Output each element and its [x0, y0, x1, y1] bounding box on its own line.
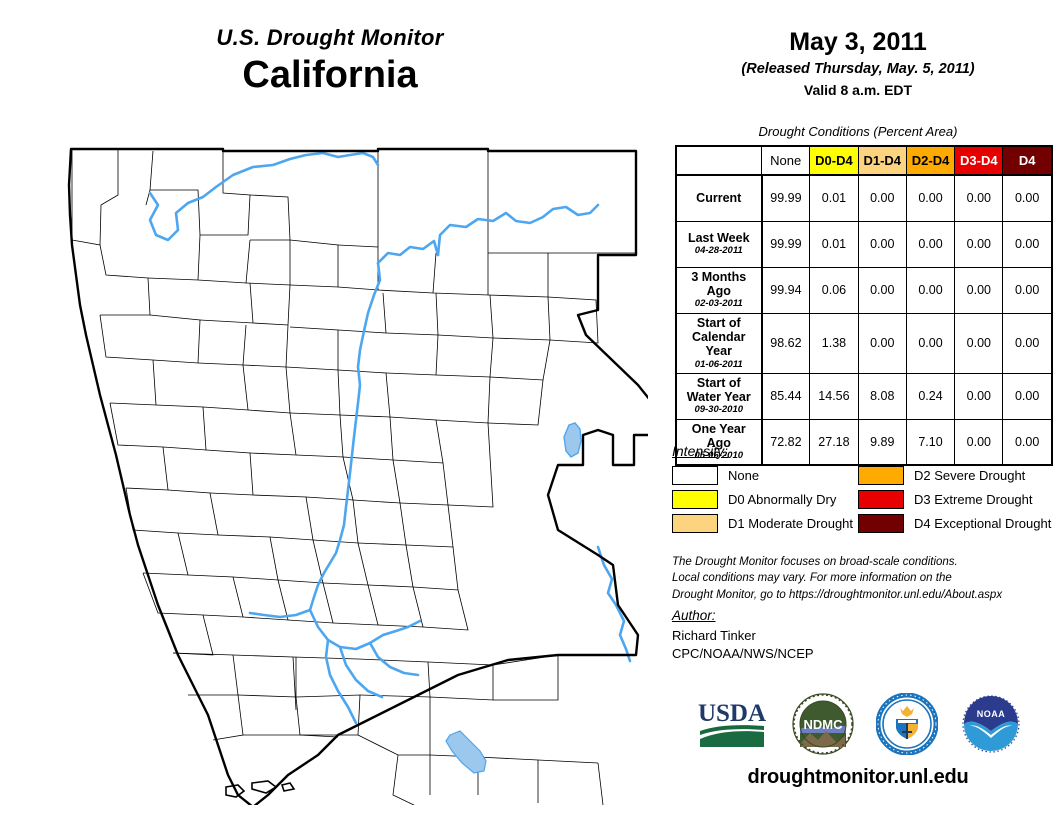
column-header-d4: D4	[1003, 146, 1052, 175]
table-row: 3 Months Ago 02-03-2011 99.94 0.06 0.00 …	[676, 267, 1052, 313]
author-organization: CPC/NOAA/NWS/NCEP	[672, 645, 1056, 663]
cell-d2d4: 0.24	[906, 373, 954, 419]
row-label-text: Start ofWater Year	[687, 376, 751, 404]
disclaimer-line-3: Drought Monitor, go to https://droughtmo…	[672, 587, 1056, 603]
page-title: U.S. Drought Monitor	[0, 26, 660, 50]
row-label-last-week: Last Week 04-28-2011	[676, 221, 762, 267]
legend-swatch-d4	[858, 514, 904, 533]
table-caption: Drought Conditions (Percent Area)	[660, 124, 1056, 139]
map-panel: U.S. Drought Monitor California	[0, 0, 660, 816]
map-state-fill	[69, 149, 648, 805]
row-label-date: 01-06-2011	[679, 360, 759, 371]
row-label-text: Start ofCalendar Year	[692, 316, 746, 359]
legend-label-none: None	[728, 468, 759, 483]
table-header-row: None D0-D4 D1-D4 D2-D4 D3-D4 D4	[676, 146, 1052, 175]
column-header-d0d4: D0-D4	[810, 146, 858, 175]
ndmc-logo[interactable]: NDMC	[792, 693, 854, 755]
row-label-text: 3 Months Ago	[691, 270, 746, 298]
cell-none: 99.94	[762, 267, 810, 313]
cell-d2d4: 0.00	[906, 267, 954, 313]
row-label-start-water-year: Start ofWater Year 09-30-2010	[676, 373, 762, 419]
legend-item-d0: D0 Abnormally Dry	[672, 490, 858, 509]
california-drought-map[interactable]	[38, 135, 648, 805]
release-date: (Released Thursday, May. 5, 2011)	[660, 61, 1056, 77]
title-block: U.S. Drought Monitor California	[0, 26, 660, 98]
cell-d4: 0.00	[1003, 267, 1052, 313]
column-header-d1d4: D1-D4	[858, 146, 906, 175]
map-svg	[38, 135, 648, 805]
commerce-seal[interactable]	[876, 693, 938, 755]
noaa-logo[interactable]: NOAA	[960, 693, 1022, 755]
row-label-start-calendar-year: Start ofCalendar Year 01-06-2011	[676, 313, 762, 373]
usda-logo[interactable]: USDA	[694, 695, 770, 753]
intensity-legend-grid: None D2 Severe Drought D0 Abnormally Dry…	[672, 466, 1056, 533]
legend-item-none: None	[672, 466, 858, 485]
table-row: Current 99.99 0.01 0.00 0.00 0.00 0.00	[676, 175, 1052, 221]
valid-time: Valid 8 a.m. EDT	[660, 82, 1056, 98]
cell-none: 99.99	[762, 221, 810, 267]
table-row: Start ofWater Year 09-30-2010 85.44 14.5…	[676, 373, 1052, 419]
author-block: Author: Richard Tinker CPC/NOAA/NWS/NCEP	[672, 608, 1056, 663]
cell-d1d4: 0.00	[858, 267, 906, 313]
table-row: Start ofCalendar Year 01-06-2011 98.62 1…	[676, 313, 1052, 373]
legend-item-d3: D3 Extreme Drought	[858, 490, 1056, 509]
cell-none: 99.99	[762, 175, 810, 221]
row-label-date: 02-03-2011	[679, 299, 759, 310]
cell-d0d4: 0.01	[810, 221, 858, 267]
legend-label-d2: D2 Severe Drought	[914, 468, 1025, 483]
cell-d2d4: 0.00	[906, 175, 954, 221]
intensity-legend: Intensity: None D2 Severe Drought D0 Abn…	[672, 443, 1056, 533]
noaa-logo-text: NOAA	[977, 709, 1006, 719]
legend-swatch-d2	[858, 466, 904, 485]
cell-d3d4: 0.00	[955, 175, 1003, 221]
logo-row: USDA NDMC	[660, 684, 1056, 764]
disclaimer-line-2: Local conditions may vary. For more info…	[672, 570, 1056, 586]
salton-sea	[446, 731, 486, 773]
cell-d1d4: 0.00	[858, 221, 906, 267]
cell-d3d4: 0.00	[955, 267, 1003, 313]
legend-label-d3: D3 Extreme Drought	[914, 492, 1033, 507]
legend-swatch-d0	[672, 490, 718, 509]
table-body: Current 99.99 0.01 0.00 0.00 0.00 0.00 L…	[676, 175, 1052, 465]
author-title: Author:	[672, 608, 1056, 623]
row-label-date: 04-28-2011	[679, 246, 759, 257]
column-header-d3d4: D3-D4	[955, 146, 1003, 175]
column-header-none: None	[762, 146, 810, 175]
cell-d1d4: 8.08	[858, 373, 906, 419]
row-label-text: Last Week	[688, 231, 750, 245]
legend-swatch-d1	[672, 514, 718, 533]
cell-d3d4: 0.00	[955, 373, 1003, 419]
legend-item-d1: D1 Moderate Drought	[672, 514, 858, 533]
legend-label-d0: D0 Abnormally Dry	[728, 492, 836, 507]
table-row: Last Week 04-28-2011 99.99 0.01 0.00 0.0…	[676, 221, 1052, 267]
legend-label-d4: D4 Exceptional Drought	[914, 516, 1051, 531]
cell-d0d4: 1.38	[810, 313, 858, 373]
intensity-legend-title: Intensity:	[672, 443, 1056, 459]
legend-label-d1: D1 Moderate Drought	[728, 516, 853, 531]
legend-item-d2: D2 Severe Drought	[858, 466, 1056, 485]
cell-d4: 0.00	[1003, 373, 1052, 419]
cell-d1d4: 0.00	[858, 175, 906, 221]
disclaimer-text: The Drought Monitor focuses on broad-sca…	[672, 554, 1056, 603]
usda-logo-text: USDA	[698, 700, 766, 727]
ndmc-logo-text: NDMC	[804, 717, 844, 732]
disclaimer-line-1: The Drought Monitor focuses on broad-sca…	[672, 554, 1056, 570]
legend-item-d4: D4 Exceptional Drought	[858, 514, 1056, 533]
row-label-date: 09-30-2010	[679, 405, 759, 416]
row-label-text: Current	[696, 191, 741, 205]
map-date: May 3, 2011	[660, 28, 1056, 57]
table-corner-cell	[676, 146, 762, 175]
cell-d4: 0.00	[1003, 221, 1052, 267]
cell-d1d4: 0.00	[858, 313, 906, 373]
cell-none: 85.44	[762, 373, 810, 419]
cell-d0d4: 0.06	[810, 267, 858, 313]
drought-conditions-table: None D0-D4 D1-D4 D2-D4 D3-D4 D4 Current …	[675, 145, 1053, 466]
column-header-d2d4: D2-D4	[906, 146, 954, 175]
row-label-3-months-ago: 3 Months Ago 02-03-2011	[676, 267, 762, 313]
row-label-current: Current	[676, 175, 762, 221]
cell-d2d4: 0.00	[906, 221, 954, 267]
cell-none: 98.62	[762, 313, 810, 373]
info-panel: May 3, 2011 (Released Thursday, May. 5, …	[660, 0, 1056, 816]
cell-d4: 0.00	[1003, 313, 1052, 373]
site-url[interactable]: droughtmonitor.unl.edu	[660, 766, 1056, 789]
cell-d2d4: 0.00	[906, 313, 954, 373]
legend-swatch-none	[672, 466, 718, 485]
date-block: May 3, 2011 (Released Thursday, May. 5, …	[660, 28, 1056, 98]
legend-swatch-d3	[858, 490, 904, 509]
cell-d4: 0.00	[1003, 175, 1052, 221]
author-name: Richard Tinker	[672, 627, 1056, 645]
cell-d0d4: 14.56	[810, 373, 858, 419]
cell-d3d4: 0.00	[955, 313, 1003, 373]
cell-d3d4: 0.00	[955, 221, 1003, 267]
cell-d0d4: 0.01	[810, 175, 858, 221]
state-title: California	[0, 54, 660, 98]
